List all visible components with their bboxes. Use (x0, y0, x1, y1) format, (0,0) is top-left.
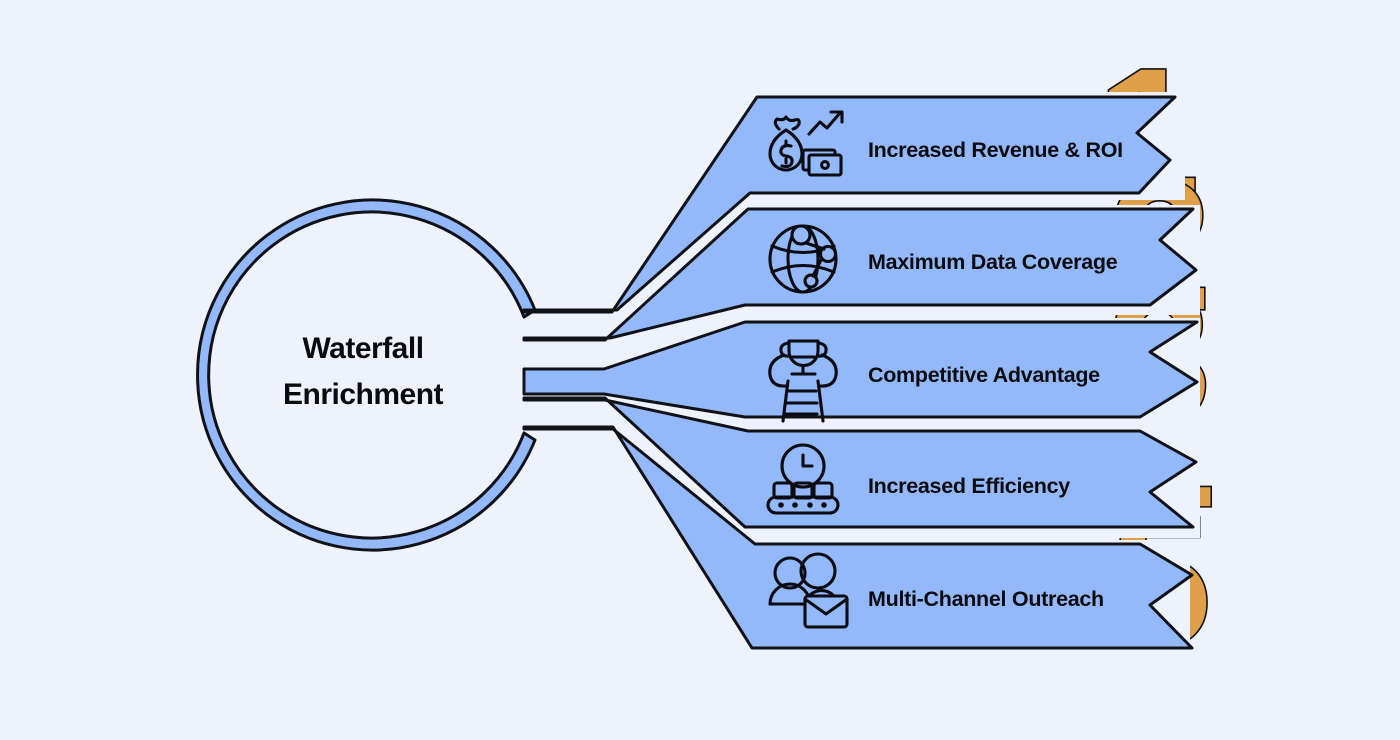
benefit-label-3: Competitive Advantage (868, 363, 1100, 387)
benefit-label-4: Increased Efficiency (868, 474, 1070, 498)
hub-title-line1: Waterfall (302, 332, 423, 365)
waterfall-enrichment-infographic: 1 2 3 4 5 Waterfall Enrichment Increased… (0, 0, 1400, 740)
hub-circle[interactable]: Waterfall Enrichment (198, 200, 535, 550)
benefit-label-2: Maximum Data Coverage (868, 250, 1118, 274)
benefit-label-1: Increased Revenue & ROI (868, 138, 1123, 162)
hub-title-line2: Enrichment (283, 378, 444, 411)
benefit-label-5: Multi-Channel Outreach (868, 587, 1104, 611)
